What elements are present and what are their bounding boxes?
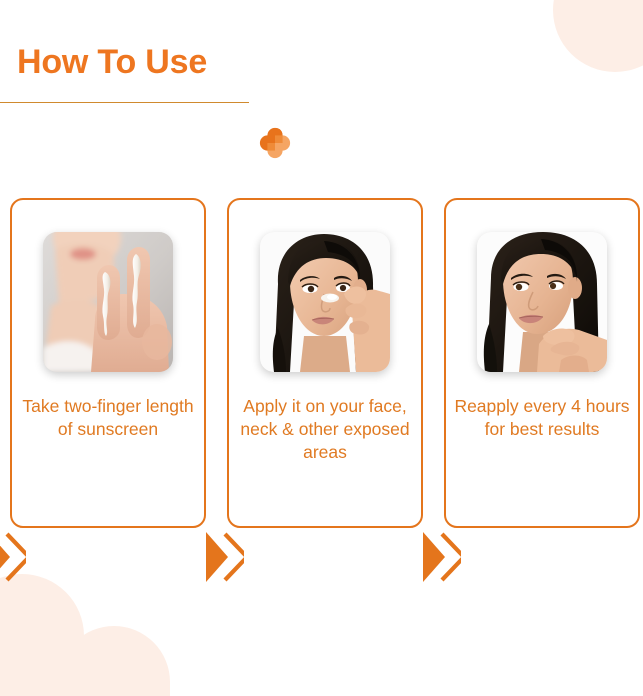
double-chevron-right-icon	[421, 526, 461, 588]
step-image-2	[260, 232, 390, 372]
step-image-3	[477, 232, 607, 372]
step-caption-2: Apply it on your face, neck & other expo…	[235, 395, 415, 464]
corner-blob-bottom-left-small-icon	[58, 626, 170, 696]
step-caption-1: Take two-finger length of sunscreen	[18, 395, 198, 441]
title-underline	[0, 102, 249, 103]
steps-row: Take two-finger length of sunscreen	[0, 198, 643, 538]
step-card-2[interactable]: Apply it on your face, neck & other expo…	[227, 198, 423, 528]
step-image-1	[43, 232, 173, 372]
step-card-1[interactable]: Take two-finger length of sunscreen	[10, 198, 206, 528]
step-caption-3: Reapply every 4 hours for best results	[452, 395, 632, 441]
double-chevron-right-icon	[0, 526, 26, 588]
header: How To Use	[0, 40, 643, 120]
double-chevron-right-icon	[204, 526, 244, 588]
step-card-3[interactable]: Reapply every 4 hours for best results	[444, 198, 640, 528]
how-to-use-infographic: How To Use	[0, 0, 643, 696]
four-lobe-plus-icon	[257, 125, 293, 161]
page-title: How To Use	[17, 40, 207, 84]
corner-blob-bottom-left-large-icon	[0, 574, 84, 696]
